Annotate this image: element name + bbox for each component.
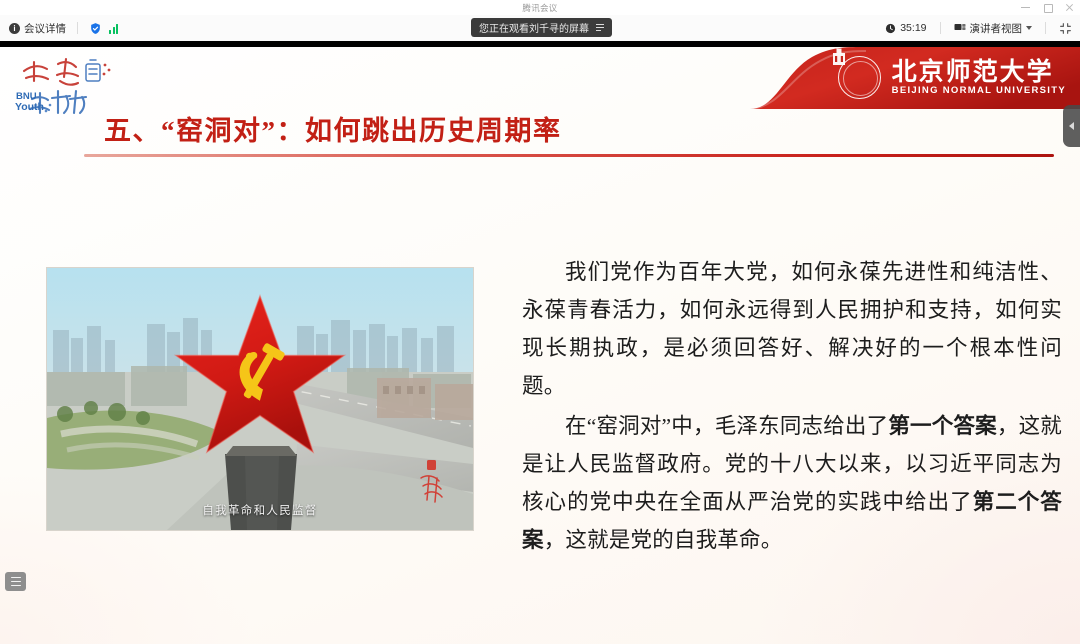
slide-list-button[interactable]: [5, 572, 26, 591]
video-subtitle: 自我革命和人民监督: [47, 502, 473, 518]
slide-title: 五、“窑洞对”：如何跳出历史周期率: [104, 109, 562, 148]
speaker-view-icon: [954, 23, 966, 34]
app-title: 腾讯会议: [522, 2, 557, 14]
university-banner: 北京师范大学 BEIJING NORMAL UNIVERSITY: [750, 47, 1080, 109]
signal-strength-icon[interactable]: [109, 23, 118, 34]
close-button[interactable]: [1065, 3, 1074, 12]
brandmark-art: BNU Youth: [14, 55, 122, 117]
screen-share-notice[interactable]: 您正在观看刘千寻的屏幕: [471, 18, 612, 37]
toolbar-left-group: i 会议详情: [0, 21, 118, 36]
chevron-left-icon: [1069, 122, 1074, 130]
elapsed-time: 35:19: [900, 22, 926, 34]
minimize-button[interactable]: [1021, 3, 1030, 12]
clock-icon: [885, 23, 896, 34]
toolbar-divider-3: [1045, 22, 1046, 34]
slide-image-art: [47, 268, 473, 530]
bnu-logo: 北京师范大学 BEIJING NORMAL UNIVERSITY: [838, 56, 1066, 99]
side-panel-toggle[interactable]: [1063, 105, 1080, 147]
bnu-text-block: 北京师范大学 BEIJING NORMAL UNIVERSITY: [892, 60, 1066, 96]
toolbar-right-group: 35:19 演讲者视图: [885, 15, 1072, 41]
emphasis-text: 第一个答案: [888, 414, 997, 438]
exit-fullscreen-icon[interactable]: [1059, 22, 1072, 35]
meeting-details-button[interactable]: i 会议详情: [9, 21, 66, 36]
meeting-timer: 35:19: [885, 22, 926, 34]
body-run: 在“窑洞对”中，毛泽东同志给出了: [565, 414, 888, 438]
title-underline: [84, 154, 1054, 157]
maximize-button[interactable]: [1043, 3, 1052, 12]
body-run: ，这就是党的自我革命。: [544, 528, 783, 552]
window-controls: [1021, 0, 1074, 15]
slide-image: 自我革命和人民监督: [46, 267, 474, 531]
paragraph-1: 我们党作为百年大党，如何永葆先进性和纯洁性、永葆青春活力，如何永远得到人民拥护和…: [522, 253, 1062, 405]
brandmark-youth-text: Youth: [15, 101, 44, 113]
shared-screen-slide: 北京师范大学 BEIJING NORMAL UNIVERSITY: [0, 47, 1080, 644]
info-icon: i: [9, 23, 20, 34]
view-mode-selector[interactable]: 演讲者视图: [954, 21, 1033, 36]
tencent-meeting-window: 腾讯会议 i 会议详情 您正在观看刘千寻的屏幕: [0, 0, 1080, 644]
screen-share-notice-label: 您正在观看刘千寻的屏幕: [479, 20, 589, 35]
university-name-cn: 北京师范大学: [892, 60, 1066, 85]
toolbar-divider-2: [940, 22, 941, 34]
paragraph-2: 在“窑洞对”中，毛泽东同志给出了第一个答案，这就是让人民监督政府。党的十八大以来…: [522, 407, 1062, 559]
shield-icon[interactable]: [89, 22, 102, 35]
bnu-seal-building-icon: [830, 47, 848, 67]
view-mode-label: 演讲者视图: [970, 21, 1023, 36]
toolbar-divider: [77, 22, 78, 34]
meeting-toolbar: i 会议详情 您正在观看刘千寻的屏幕 35:19: [0, 15, 1080, 41]
window-titlebar: 腾讯会议: [0, 0, 1080, 15]
university-name-en: BEIJING NORMAL UNIVERSITY: [892, 86, 1066, 96]
chevron-down-icon: [1026, 26, 1032, 30]
list-icon: [11, 577, 21, 587]
body-run: 我们党作为百年大党，如何永葆先进性和纯洁性、永葆青春活力，如何永远得到人民拥护和…: [522, 260, 1062, 398]
bnu-seal-icon: [838, 56, 881, 99]
meeting-details-label: 会议详情: [24, 21, 66, 36]
slide-body-text: 我们党作为百年大党，如何永葆先进性和纯洁性、永葆青春活力，如何永远得到人民拥护和…: [522, 253, 1062, 559]
youth-bnu-brandmark: BNU Youth: [14, 55, 122, 117]
list-menu-icon[interactable]: [596, 24, 604, 32]
